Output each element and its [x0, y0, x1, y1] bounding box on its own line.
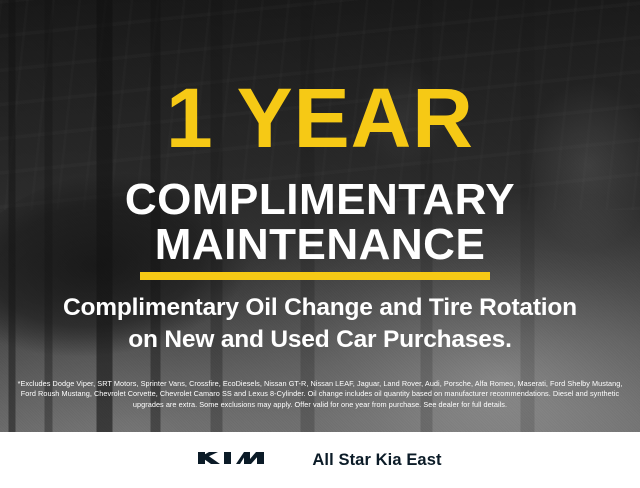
headline-maintenance: MAINTENANCE	[0, 223, 640, 267]
promotional-banner: 1 YEAR COMPLIMENTARY MAINTENANCE Complim…	[0, 0, 640, 488]
headline-one-year: 1 YEAR	[0, 76, 640, 160]
subheading-line-2: on New and Used Car Purchases.	[0, 324, 640, 356]
subheading-line-1: Complimentary Oil Change and Tire Rotati…	[0, 292, 640, 324]
disclaimer-fine-print: *Excludes Dodge Viper, SRT Motors, Sprin…	[16, 379, 624, 410]
dealer-name: All Star Kia East	[312, 451, 441, 470]
headline-complimentary: COMPLIMENTARY	[0, 178, 640, 222]
kia-logo-icon	[198, 446, 286, 475]
banner-content: 1 YEAR COMPLIMENTARY MAINTENANCE Complim…	[0, 0, 640, 488]
subheading: Complimentary Oil Change and Tire Rotati…	[0, 292, 640, 356]
yellow-divider-bar	[140, 272, 490, 280]
dealer-footer-bar: All Star Kia East	[0, 432, 640, 488]
